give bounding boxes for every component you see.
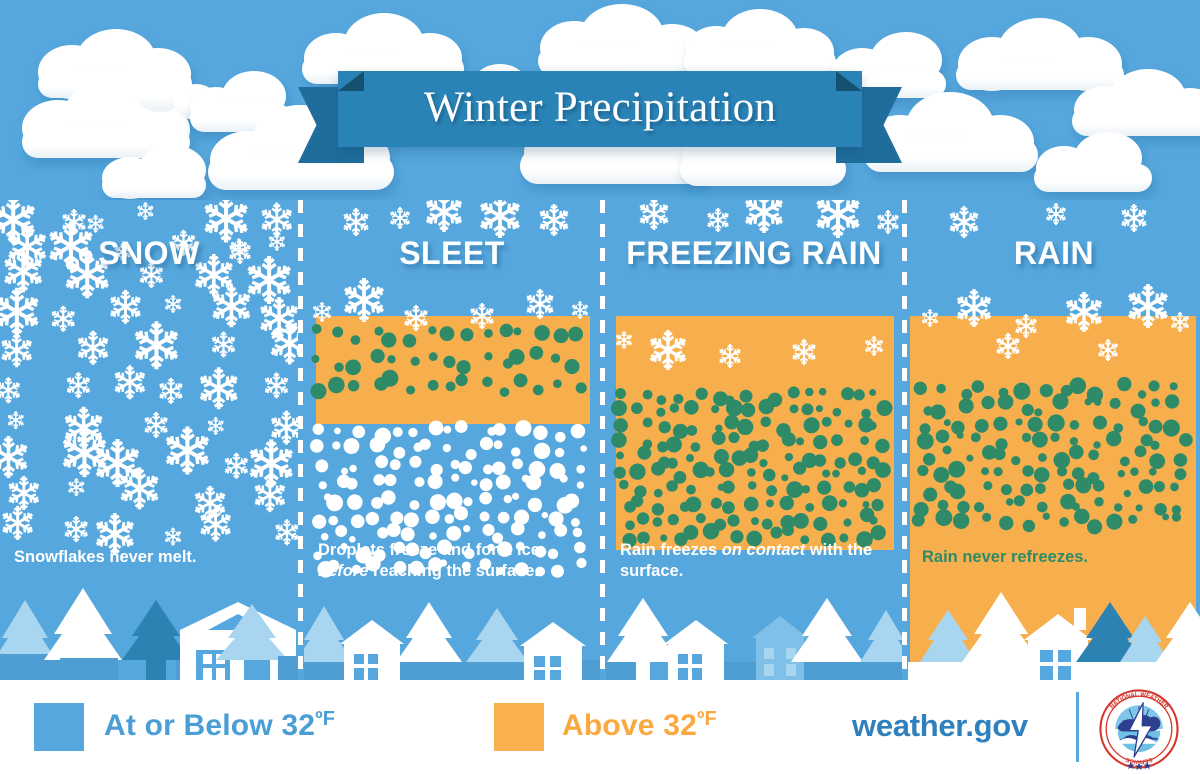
snowflake-icon bbox=[137, 202, 153, 220]
snowflake-icon bbox=[8, 411, 24, 429]
snowflake-icon bbox=[8, 476, 39, 510]
snowflake-icon bbox=[165, 295, 181, 313]
snowflake-icon bbox=[1121, 204, 1146, 232]
legend-warm-text: Above 32 bbox=[562, 709, 697, 742]
snowflake-icon bbox=[68, 478, 84, 496]
snowflake-icon bbox=[404, 305, 428, 331]
snowflake-icon bbox=[1046, 203, 1066, 225]
legend-warm-degree: ºF bbox=[697, 708, 717, 730]
snowflake-icon bbox=[1171, 312, 1189, 332]
snowflake-icon bbox=[1066, 292, 1102, 332]
snowflake-icon bbox=[212, 331, 236, 357]
snowflake-icon bbox=[616, 331, 632, 349]
snowflake-icon bbox=[719, 344, 741, 368]
skyline-shapes bbox=[908, 592, 1200, 680]
snowflake-icon bbox=[922, 309, 938, 327]
snowflake-icon bbox=[792, 339, 816, 365]
legend-label-cold: At or Below 32ºF bbox=[104, 708, 335, 743]
snowflake-icon bbox=[480, 200, 520, 238]
snowflake-icon bbox=[426, 200, 462, 232]
column-caption-freezing-rain: Rain freezes on contact with the surface… bbox=[620, 540, 888, 582]
snowflake-icon bbox=[0, 436, 28, 478]
snowflake-icon bbox=[0, 377, 20, 403]
snowflake-icon bbox=[1, 333, 32, 367]
national-weather-service-seal-icon: NATIONAL WEATHER SERVICE bbox=[1098, 688, 1180, 770]
snowflake-icon bbox=[261, 203, 292, 237]
snowflake-icon bbox=[271, 411, 298, 445]
column-header-freezing-rain: FREEZING RAIN bbox=[606, 235, 902, 272]
weather-gov-link[interactable]: weather.gov bbox=[852, 708, 1028, 744]
snowflake-icon bbox=[2, 506, 33, 540]
snowflake-icon bbox=[135, 321, 179, 369]
caption-emphasis: on contact bbox=[722, 541, 805, 559]
snowflake-icon bbox=[344, 278, 384, 322]
snowflake-icon bbox=[865, 336, 883, 356]
caption-text: Droplets freeze and form ice bbox=[318, 541, 540, 559]
snowflake-icon bbox=[390, 207, 410, 229]
column-freezing-rain: FREEZING RAIN Rain freezes on contact wi… bbox=[606, 200, 902, 680]
page-title: Winter Precipitation bbox=[338, 71, 862, 147]
snowflake-icon bbox=[1128, 284, 1168, 328]
column-header-snow: SNOW bbox=[0, 235, 298, 272]
logo-stars bbox=[1127, 762, 1152, 770]
footer-legend-bar: At or Below 32ºF Above 32ºF weather.gov bbox=[0, 680, 1200, 774]
snowflake-icon bbox=[949, 206, 978, 238]
snowflake-icon bbox=[1098, 339, 1118, 361]
caption-tail: reaching the surface. bbox=[368, 562, 539, 580]
caption-text: Rain never refreezes. bbox=[922, 548, 1088, 566]
ribbon-banner: Winter Precipitation bbox=[338, 71, 862, 147]
snowflake-icon bbox=[64, 516, 88, 542]
footer-divider-rule bbox=[1076, 692, 1079, 762]
snowflake-icon bbox=[110, 290, 141, 324]
legend-cold-degree: ºF bbox=[315, 708, 335, 730]
snowflake-icon bbox=[275, 519, 298, 545]
snowflake-icon bbox=[957, 289, 992, 327]
snowflake-icon bbox=[195, 486, 226, 520]
snowflake-icon bbox=[343, 208, 368, 236]
skyline-shapes bbox=[304, 602, 600, 680]
column-header-sleet: SLEET bbox=[304, 235, 600, 272]
snowflake-icon bbox=[67, 372, 91, 398]
column-divider-2 bbox=[600, 200, 605, 680]
column-caption-sleet: Droplets freeze and form ice before reac… bbox=[318, 540, 586, 582]
title-ribbon: Winter Precipitation bbox=[0, 63, 1200, 163]
snowflake-icon bbox=[265, 372, 289, 398]
snowflake-icon bbox=[470, 303, 494, 329]
legend-cold-text: At or Below 32 bbox=[104, 709, 315, 742]
snowflake-icon bbox=[144, 412, 168, 438]
column-divider-1 bbox=[298, 200, 303, 680]
column-caption-rain: Rain never refreezes. bbox=[922, 547, 1190, 568]
caption-text: Snowflakes never melt. bbox=[14, 548, 197, 566]
skyline-shapes bbox=[606, 598, 902, 680]
snowflake-icon bbox=[877, 210, 899, 234]
snowflake-icon bbox=[745, 200, 783, 233]
snowflake-icon bbox=[87, 215, 103, 233]
snowflake-icon bbox=[114, 365, 145, 399]
caption-text: Rain freezes bbox=[620, 541, 722, 559]
column-divider-3 bbox=[902, 200, 907, 680]
snowflake-icon bbox=[208, 417, 224, 435]
snowflake-icon bbox=[165, 528, 181, 546]
snowflake-icon bbox=[0, 288, 39, 336]
snowflake-icon bbox=[572, 301, 588, 319]
skyline-shapes bbox=[0, 588, 298, 680]
snowflake-icon bbox=[539, 204, 568, 236]
legend-label-warm: Above 32ºF bbox=[562, 708, 717, 743]
column-caption-snow: Snowflakes never melt. bbox=[14, 547, 282, 568]
snowflake-icon bbox=[166, 426, 210, 474]
snowflake-icon bbox=[51, 306, 75, 332]
infographic-canvas: Winter Precipitation SNOW Snowflakes nev… bbox=[0, 0, 1200, 774]
snowflake-icon bbox=[1015, 314, 1037, 338]
caption-emphasis: before bbox=[318, 562, 368, 580]
snowflake-icon bbox=[254, 478, 285, 512]
column-snow: SNOW Snowflakes never melt. bbox=[0, 200, 298, 680]
snowflake-icon bbox=[639, 200, 668, 230]
column-rain: RAIN Rain never refreezes. bbox=[908, 200, 1200, 680]
legend-swatch-warm bbox=[494, 703, 544, 751]
column-sleet: SLEET Droplets freeze and form ice befor… bbox=[304, 200, 600, 680]
snowflake-icon bbox=[200, 507, 231, 541]
legend-swatch-cold bbox=[34, 703, 84, 751]
snowflake-icon bbox=[159, 378, 183, 404]
snowflake-icon bbox=[526, 289, 553, 319]
snowflake-icon bbox=[200, 367, 238, 409]
snowflake-icon bbox=[707, 208, 729, 232]
snowflake-icon bbox=[996, 333, 1020, 359]
snowflake-icon bbox=[313, 302, 331, 322]
snowflake-icon bbox=[650, 330, 686, 370]
column-header-rain: RAIN bbox=[908, 235, 1200, 272]
snowflake-icon bbox=[816, 200, 860, 238]
snowflake-icon bbox=[225, 453, 249, 479]
snowflake-icon bbox=[78, 331, 109, 365]
